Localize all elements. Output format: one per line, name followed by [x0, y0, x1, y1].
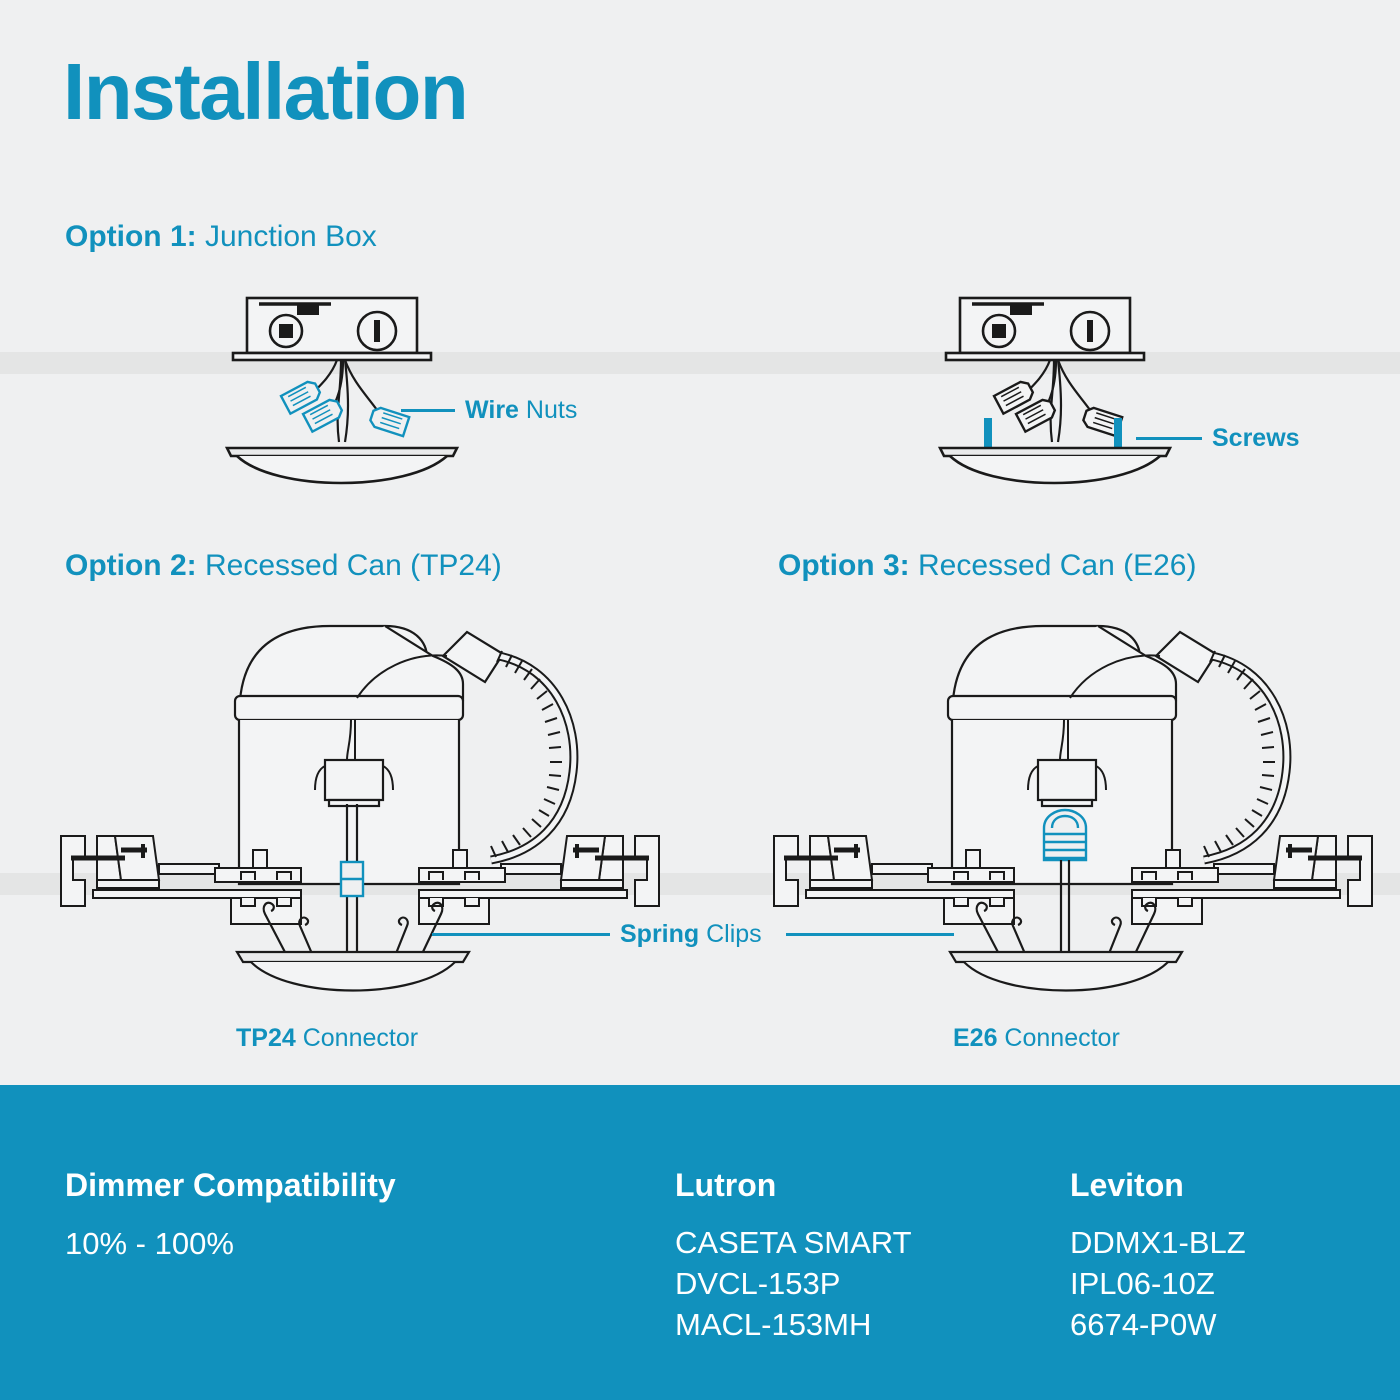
flex-conduit [1204, 651, 1287, 860]
tp24-connector-caption: TP24 Connector [236, 1024, 418, 1053]
brand-name-leviton: Leviton [1070, 1167, 1246, 1204]
internal-junction-box [325, 760, 383, 800]
option-2-recessed-can-diagram [55, 612, 665, 1002]
list-item: IPL06-10Z [1070, 1263, 1246, 1304]
brand-name-lutron: Lutron [675, 1167, 912, 1204]
option-1-number: Option 1: [65, 220, 197, 253]
spring-clips-label: Spring Clips [620, 920, 762, 949]
list-item: CASETA SMART [675, 1222, 912, 1263]
dimmer-range-value: 10% - 100% [65, 1226, 396, 1262]
e26-connector [1044, 810, 1086, 860]
lutron-model-list: CASETA SMART DVCL-153P MACL-153MH [675, 1222, 912, 1346]
tp24-connector [341, 862, 363, 896]
spring-clips-leader-line-right [786, 933, 954, 936]
wire-nuts-leader-line [401, 409, 455, 412]
footer-column-dimmer: Dimmer Compatibility 10% - 100% [65, 1085, 396, 1262]
option-3-heading: Option 3: Recessed Can (E26) [778, 549, 1196, 583]
option-2-heading: Option 2: Recessed Can (TP24) [65, 549, 502, 583]
list-item: MACL-153MH [675, 1304, 912, 1345]
e26-caption-strong: E26 [953, 1024, 997, 1052]
ceiling-frame-right [1132, 836, 1372, 924]
option-2-number: Option 2: [65, 549, 197, 582]
fixture-dome [251, 962, 455, 991]
fixture-dome [237, 456, 447, 483]
can-collar [948, 696, 1176, 720]
wire-nuts-label: Wire Nuts [465, 396, 577, 425]
tp24-caption-light: Connector [296, 1024, 418, 1052]
e26-caption-light: Connector [997, 1024, 1119, 1052]
option-1-screws-diagram [938, 290, 1198, 500]
dimmer-compatibility-heading: Dimmer Compatibility [65, 1167, 396, 1204]
fixture-dome [950, 456, 1160, 483]
page-title: Installation [63, 52, 467, 132]
ceiling-frame-left [774, 836, 1014, 924]
screw-right [1114, 418, 1122, 450]
fixture-rim [227, 448, 457, 456]
footer-column-leviton: Leviton DDMX1-BLZ IPL06-10Z 6674-P0W [1070, 1085, 1246, 1346]
footer-column-lutron: Lutron CASETA SMART DVCL-153P MACL-153MH [675, 1085, 912, 1346]
ceiling-frame-right [419, 836, 659, 924]
screws-label: Screws [1212, 424, 1300, 453]
list-item: 6674-P0W [1070, 1304, 1246, 1345]
can-collar [235, 696, 463, 720]
screw-left [984, 418, 992, 450]
fixture-rim [950, 952, 1182, 962]
fixture-dome [964, 962, 1168, 991]
option-2-name: Recessed Can (TP24) [197, 549, 502, 582]
flex-conduit [491, 651, 574, 860]
option-3-recessed-can-diagram [768, 612, 1378, 1002]
screws-label-strong: Screws [1212, 424, 1300, 452]
fixture-rim [940, 448, 1170, 456]
leviton-model-list: DDMX1-BLZ IPL06-10Z 6674-P0W [1070, 1222, 1246, 1346]
installation-infographic: Installation Option 1: Junction Box Opti… [0, 0, 1400, 1400]
fixture-rim [237, 952, 469, 962]
list-item: DDMX1-BLZ [1070, 1222, 1246, 1263]
option-1-heading: Option 1: Junction Box [65, 220, 377, 254]
screws-leader-line [1136, 437, 1202, 440]
spring-clips-label-strong: Spring [620, 920, 699, 948]
wire-nut [994, 379, 1122, 436]
dimmer-compatibility-footer: Dimmer Compatibility 10% - 100% Lutron C… [0, 1085, 1400, 1400]
option-3-name: Recessed Can (E26) [910, 549, 1197, 582]
e26-connector-caption: E26 Connector [953, 1024, 1120, 1053]
option-1-junction-box-diagram [225, 290, 485, 500]
option-1-name: Junction Box [197, 220, 377, 253]
list-item: DVCL-153P [675, 1263, 912, 1304]
ceiling-frame-left [61, 836, 301, 924]
wire-nut [281, 379, 409, 436]
spring-clips-label-light: Clips [699, 920, 762, 948]
internal-junction-box [1038, 760, 1096, 800]
option-3-number: Option 3: [778, 549, 910, 582]
spring-clips-leader-line-left [432, 933, 610, 936]
tp24-caption-strong: TP24 [236, 1024, 296, 1052]
wire-nuts-label-strong: Wire [465, 396, 519, 424]
wire-nuts-label-light: Nuts [519, 396, 577, 424]
